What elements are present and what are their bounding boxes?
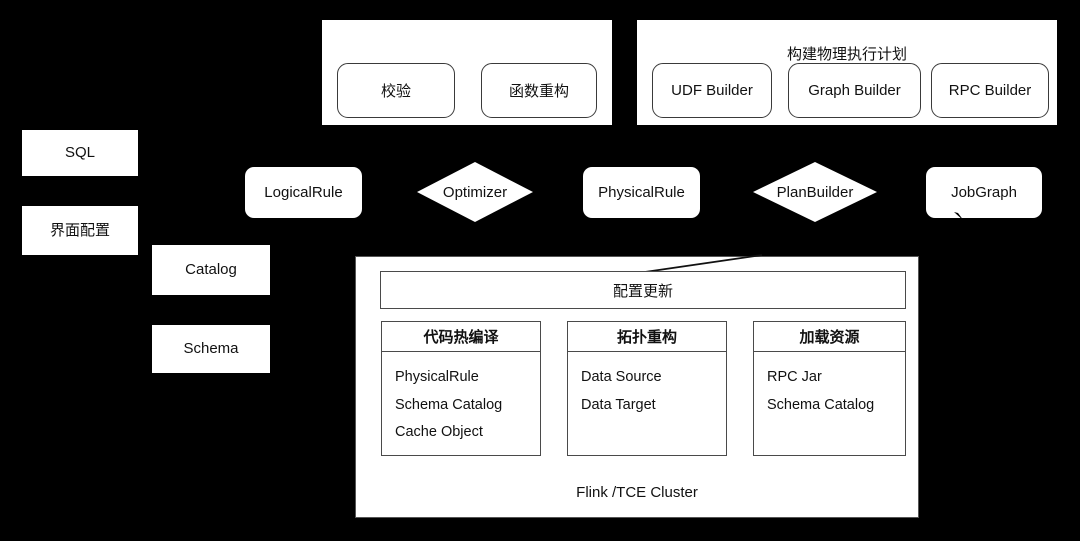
physical-plan-panel: 构建物理执行计划 UDF Builder Graph Builder RPC B… [637, 20, 1057, 125]
chip-udf-builder-label: UDF Builder [671, 82, 753, 99]
node-job-graph[interactable]: JobGraph [926, 167, 1042, 218]
list-item: PhysicalRule [395, 364, 540, 392]
node-ui-config[interactable]: 界面配置 [22, 206, 138, 255]
chip-rpc-builder[interactable]: RPC Builder [931, 63, 1049, 118]
card-topology-rebuild: 拓扑重构 Data Source Data Target [567, 321, 727, 456]
chip-graph-builder-label: Graph Builder [808, 82, 901, 99]
node-optimizer[interactable]: Optimizer [417, 162, 533, 222]
card-load-resources-items: RPC Jar Schema Catalog [754, 352, 905, 419]
list-item: Schema Catalog [767, 392, 905, 420]
cluster-caption: Flink /TCE Cluster [356, 484, 918, 501]
node-catalog-label: Catalog [185, 261, 237, 279]
node-plan-builder[interactable]: PlanBuilder [753, 162, 877, 222]
physical-plan-panel-title: 构建物理执行计划 [637, 43, 1057, 64]
node-catalog[interactable]: Catalog [152, 245, 270, 295]
node-sql[interactable]: SQL [22, 130, 138, 176]
node-logical-rule[interactable]: LogicalRule [245, 167, 362, 218]
card-topology-rebuild-title: 拓扑重构 [568, 322, 726, 352]
chip-rpc-builder-label: RPC Builder [949, 82, 1032, 99]
chip-graph-builder[interactable]: Graph Builder [788, 63, 921, 118]
node-physical-rule[interactable]: PhysicalRule [583, 167, 700, 218]
node-physical-rule-label: PhysicalRule [598, 184, 685, 202]
node-sql-label: SQL [65, 144, 95, 162]
list-item: Schema Catalog [395, 392, 540, 420]
node-ui-config-label: 界面配置 [50, 222, 110, 240]
list-item: Cache Object [395, 419, 540, 447]
node-plan-builder-label: PlanBuilder [777, 184, 854, 201]
list-item: Data Source [581, 364, 726, 392]
chip-validate[interactable]: 校验 [337, 63, 455, 118]
chip-function-rewrite-label: 函数重构 [509, 80, 569, 101]
list-item: RPC Jar [767, 364, 905, 392]
node-schema[interactable]: Schema [152, 325, 270, 373]
card-hot-compile-title: 代码热编译 [382, 322, 540, 352]
node-logical-rule-label: LogicalRule [264, 184, 342, 202]
card-hot-compile-items: PhysicalRule Schema Catalog Cache Object [382, 352, 540, 447]
node-schema-label: Schema [183, 340, 238, 358]
card-load-resources-title: 加载资源 [754, 322, 905, 352]
chip-function-rewrite[interactable]: 函数重构 [481, 63, 597, 118]
diagram-canvas: 校验 函数重构 构建物理执行计划 UDF Builder Graph Build… [0, 0, 1080, 541]
chip-udf-builder[interactable]: UDF Builder [652, 63, 772, 118]
config-update-label: 配置更新 [613, 280, 673, 301]
config-update-bar[interactable]: 配置更新 [380, 271, 906, 309]
node-job-graph-label: JobGraph [951, 184, 1017, 202]
node-optimizer-label: Optimizer [443, 184, 507, 201]
card-load-resources: 加载资源 RPC Jar Schema Catalog [753, 321, 906, 456]
card-topology-rebuild-items: Data Source Data Target [568, 352, 726, 419]
card-hot-compile: 代码热编译 PhysicalRule Schema Catalog Cache … [381, 321, 541, 456]
flink-cluster-panel: 配置更新 代码热编译 PhysicalRule Schema Catalog C… [355, 256, 919, 518]
chip-validate-label: 校验 [381, 80, 411, 101]
parse-stage-panel: 校验 函数重构 [322, 20, 612, 125]
list-item: Data Target [581, 392, 726, 420]
